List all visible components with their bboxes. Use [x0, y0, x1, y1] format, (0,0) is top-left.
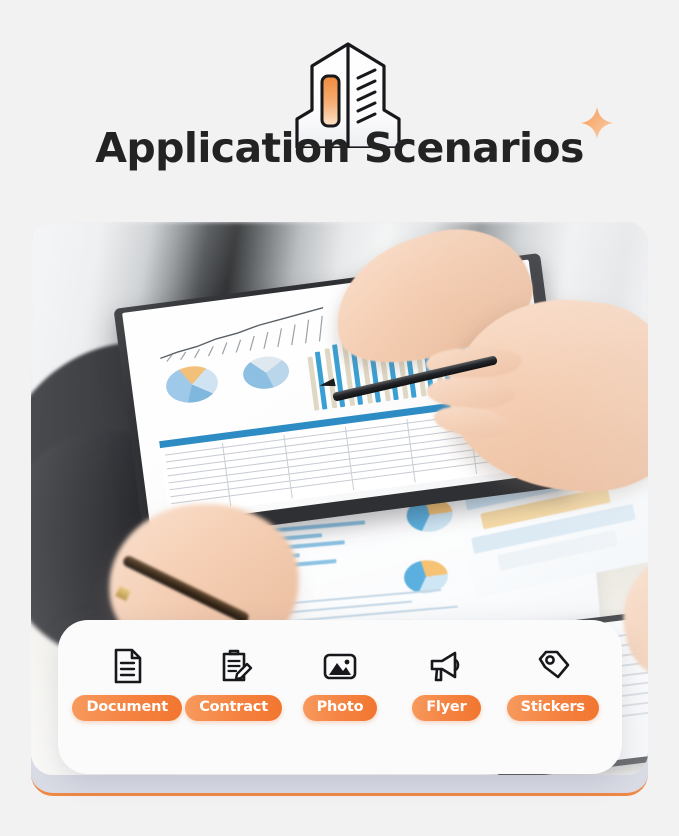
category-flyer[interactable]: Flyer — [394, 646, 498, 721]
page-title-row: Application Scenarios — [0, 128, 679, 169]
category-label-document: Document — [72, 695, 182, 721]
category-stickers[interactable]: Stickers — [501, 646, 605, 721]
photo-image-icon — [320, 646, 360, 686]
scenario-categories-card: Document Contract — [58, 620, 622, 774]
page-header: Application Scenarios — [0, 0, 679, 212]
category-document[interactable]: Document — [75, 646, 179, 721]
category-label-stickers: Stickers — [507, 695, 599, 721]
clipboard-pie-2 — [241, 354, 291, 392]
document-icon — [107, 646, 147, 686]
clipboard-pie-1 — [164, 363, 220, 405]
scenario-categories-row: Document Contract — [58, 646, 622, 721]
page-title: Application Scenarios — [95, 128, 584, 169]
price-tag-icon — [533, 646, 573, 686]
megaphone-icon — [426, 646, 466, 686]
category-photo[interactable]: Photo — [288, 646, 392, 721]
category-contract[interactable]: Contract — [182, 646, 286, 721]
contract-clipboard-pencil-icon — [214, 646, 254, 686]
sparkle-icon — [580, 106, 614, 140]
category-label-flyer: Flyer — [412, 695, 480, 721]
category-label-photo: Photo — [303, 695, 378, 721]
category-label-contract: Contract — [185, 695, 282, 721]
